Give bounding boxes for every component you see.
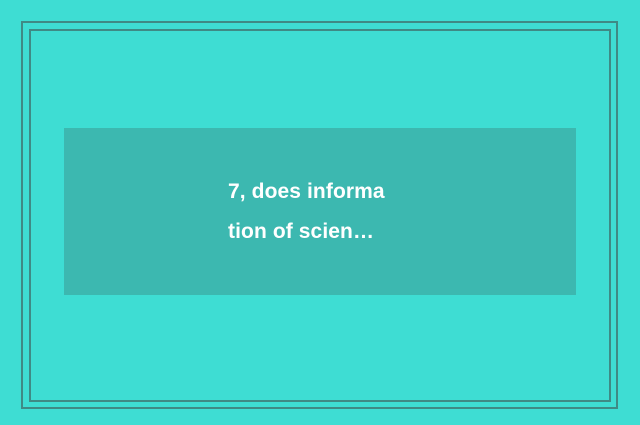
screenshot-canvas: 7, does informa tion of scien… (0, 0, 640, 425)
caption-line-1: 7, does informa (64, 172, 385, 212)
caption-panel: 7, does informa tion of scien… (64, 128, 576, 295)
caption-line-2: tion of scien… (64, 212, 374, 252)
